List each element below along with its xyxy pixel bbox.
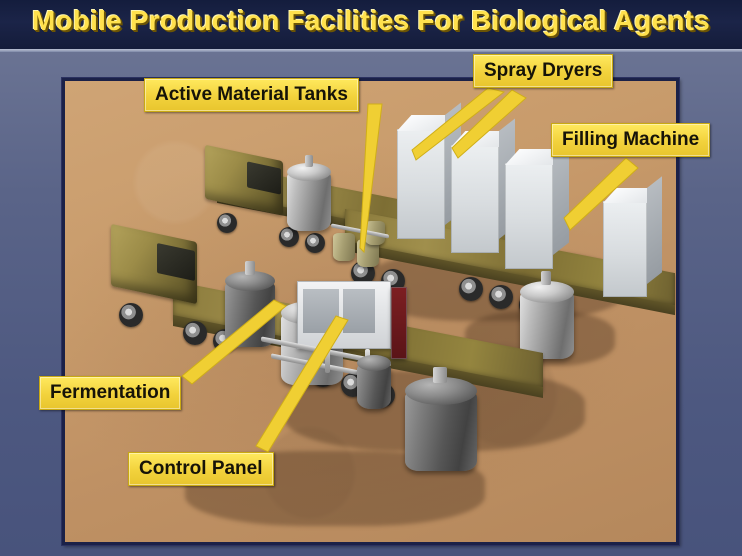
leader-line-spray-dryers-a: [400, 88, 530, 168]
callout-label: Fermentation: [50, 382, 170, 403]
filling-machine-side: [647, 176, 662, 284]
callout-control-panel[interactable]: Control Panel: [128, 452, 274, 486]
callout-filling-machine[interactable]: Filling Machine: [551, 123, 710, 157]
callout-fermentation[interactable]: Fermentation: [39, 376, 181, 410]
spray-dryer: [505, 163, 553, 269]
callout-label: Active Material Tanks: [155, 84, 348, 105]
slide-stage: Mobile Production Facilities For Biologi…: [0, 0, 742, 556]
tank-nozzle: [541, 271, 551, 285]
title-band: Mobile Production Facilities For Biologi…: [0, 0, 742, 49]
leader-line-filling-machine: [548, 158, 638, 248]
tank-nozzle: [305, 155, 313, 167]
tank-nozzle: [433, 367, 447, 383]
page-title: Mobile Production Facilities For Biologi…: [0, 5, 742, 37]
callout-label: Spray Dryers: [484, 60, 602, 81]
spray-dryer-face: [505, 163, 553, 269]
trailer-wheel: [489, 285, 513, 309]
callout-label: Filling Machine: [562, 129, 699, 150]
leader-line-active-material-tanks: [330, 104, 410, 254]
control-panel-side: [391, 287, 407, 359]
trailer-wheel: [459, 277, 483, 301]
truck-wheel: [305, 233, 325, 253]
callout-active-material-tanks[interactable]: Active Material Tanks: [144, 78, 359, 112]
truck-wheel: [119, 303, 143, 327]
leader-line-control-panel: [252, 316, 352, 456]
callout-spray-dryers[interactable]: Spray Dryers: [473, 54, 613, 88]
tank-nozzle: [245, 261, 255, 275]
truck-wheel: [217, 213, 237, 233]
tank-top: [357, 355, 391, 371]
callout-label: Control Panel: [139, 458, 263, 479]
